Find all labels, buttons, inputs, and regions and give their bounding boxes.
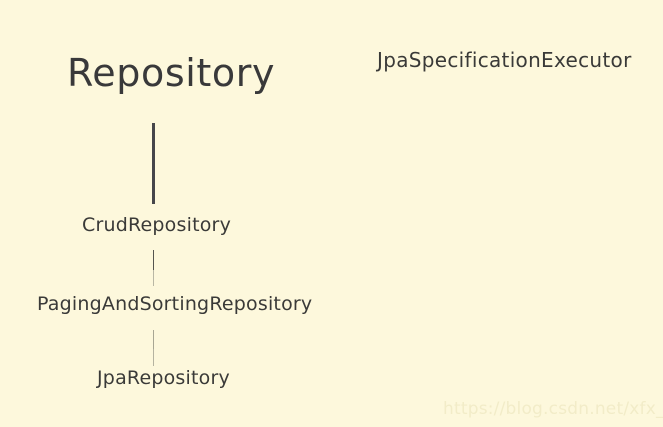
node-crud-repository: CrudRepository bbox=[82, 216, 231, 235]
edge-paging-and-sorting-repository-to-jpa-repository bbox=[153, 330, 154, 366]
node-repository: Repository bbox=[67, 54, 275, 92]
node-paging-and-sorting-repository: PagingAndSortingRepository bbox=[37, 295, 312, 314]
node-jpa-repository: JpaRepository bbox=[97, 369, 230, 388]
edge-repository-to-crud-repository bbox=[152, 123, 155, 204]
edge-crud-repository-to-paging-and-sorting-repository bbox=[153, 250, 154, 286]
node-jpa-specification-executor: JpaSpecificationExecutor bbox=[377, 50, 632, 70]
diagram-canvas: Repository JpaSpecificationExecutor Crud… bbox=[0, 0, 663, 427]
watermark-text: https://blog.csdn.net/xfx_1994 bbox=[443, 399, 663, 419]
